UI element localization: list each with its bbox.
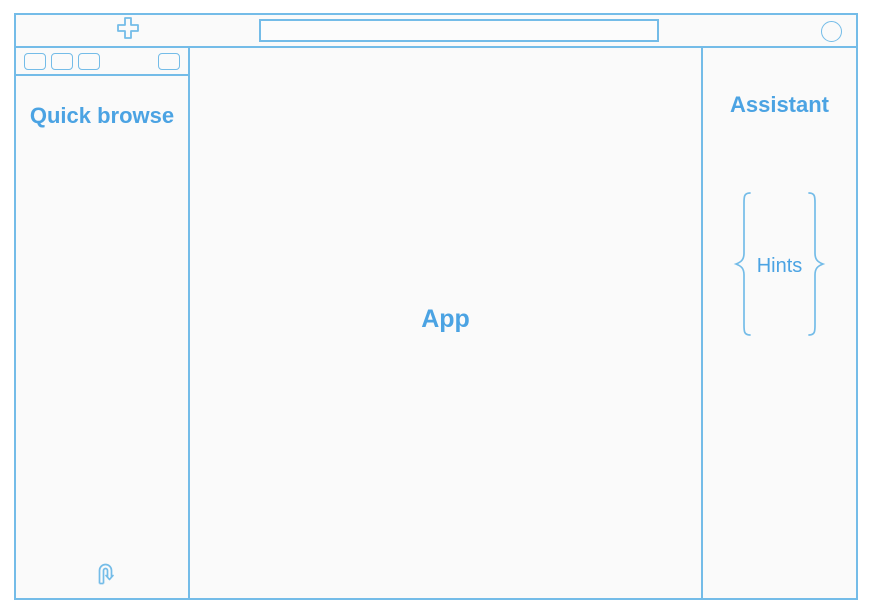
app-label: App <box>421 305 470 334</box>
hints-group: Hints <box>703 193 856 339</box>
wireframe-window: Quick browse App Assistant <box>14 13 858 600</box>
app-canvas[interactable]: App <box>190 48 703 598</box>
sidebar-title: Quick browse <box>16 102 188 130</box>
address-bar[interactable] <box>259 19 659 42</box>
header-bar <box>16 15 856 48</box>
sidebar-toolbar-left-group <box>24 53 100 70</box>
hints-label: Hints <box>757 255 803 278</box>
sidebar-tool-4[interactable] <box>158 53 180 70</box>
plus-icon <box>115 15 141 46</box>
circle-avatar-icon[interactable] <box>821 21 842 42</box>
window-body: Quick browse App Assistant <box>16 48 856 598</box>
sidebar-toolbar <box>16 48 188 76</box>
right-curly-brace-icon <box>804 191 826 342</box>
sidebar-body: Quick browse <box>16 76 188 598</box>
sidebar-toolbar-right-group <box>158 53 180 70</box>
address-bar-value <box>261 21 657 25</box>
sidebar-tool-2[interactable] <box>51 53 73 70</box>
sidebar-tool-1[interactable] <box>24 53 46 70</box>
assistant-panel: Assistant Hints <box>703 48 856 598</box>
sidebar-panel: Quick browse <box>16 48 190 598</box>
left-curly-brace-icon <box>733 191 755 342</box>
sidebar-tool-3[interactable] <box>78 53 100 70</box>
new-tab-button[interactable] <box>100 15 156 46</box>
assistant-title: Assistant <box>703 92 856 118</box>
u-turn-arrow-icon[interactable] <box>92 558 122 588</box>
